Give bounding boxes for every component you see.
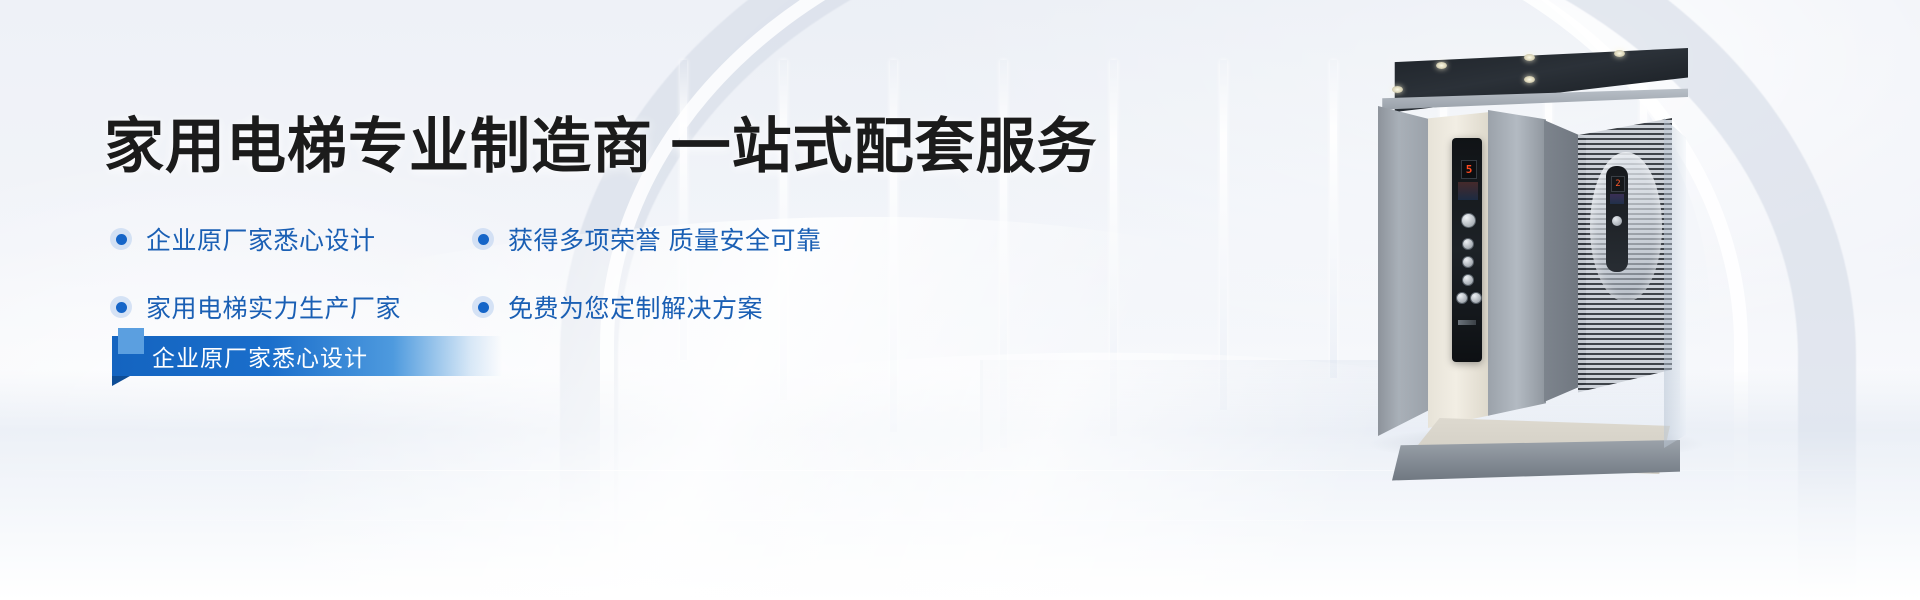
floor-indicator-display: 5 xyxy=(1461,160,1477,179)
rear-call-button-icon xyxy=(1612,216,1622,226)
highlight-tag[interactable]: 企业原厂家悉心设计 xyxy=(112,336,502,376)
feature-label: 获得多项荣誉 质量安全可靠 xyxy=(508,221,821,257)
panel-floor-button-icon xyxy=(1462,274,1474,286)
bullet-dot-icon xyxy=(472,296,494,318)
cabin-right-glass xyxy=(1664,118,1686,448)
tag-label: 企业原厂家悉心设计 xyxy=(152,339,368,373)
feature-label: 免费为您定制解决方案 xyxy=(508,289,763,325)
panel-door-open-button-icon xyxy=(1456,292,1468,304)
ceiling-light-icon xyxy=(1436,62,1447,69)
rear-floor-indicator: 2 xyxy=(1611,176,1625,192)
list-item: 获得多项荣誉 质量安全可靠 xyxy=(472,221,821,257)
tag-notch-icon xyxy=(112,376,130,386)
panel-door-close-button-icon xyxy=(1470,292,1482,304)
product-image-elevator: 2 5 xyxy=(1376,48,1688,448)
banner-content: 家用电梯专业制造商 一站式配套服务 企业原厂家悉心设计 获得多项荣誉 质量安全可… xyxy=(0,0,1100,600)
page-title: 家用电梯专业制造商 一站式配套服务 xyxy=(104,112,1098,182)
tag-accent-square-icon xyxy=(118,328,144,354)
panel-info-display xyxy=(1458,182,1478,200)
feature-label: 家用电梯实力生产厂家 xyxy=(146,289,401,325)
panel-main-button-icon xyxy=(1461,213,1476,228)
panel-floor-button-icon xyxy=(1462,256,1474,268)
feature-row: 企业原厂家悉心设计 获得多项荣誉 质量安全可靠 xyxy=(110,210,970,268)
cabin-mid-panel xyxy=(1488,110,1546,422)
bullet-dot-icon xyxy=(110,296,132,318)
cabin-left-wall xyxy=(1378,106,1430,436)
ceiling-light-icon xyxy=(1614,50,1625,57)
feature-label: 企业原厂家悉心设计 xyxy=(146,221,376,257)
list-item: 家用电梯实力生产厂家 xyxy=(110,289,472,325)
elevator-cabin: 2 5 xyxy=(1378,88,1680,440)
list-item: 免费为您定制解决方案 xyxy=(472,289,763,325)
feature-list: 企业原厂家悉心设计 获得多项荣誉 质量安全可靠 家用电梯实力生产厂家 免费为您定… xyxy=(110,210,970,336)
ceiling-light-icon xyxy=(1524,54,1535,61)
bullet-dot-icon xyxy=(110,228,132,250)
feature-row: 家用电梯实力生产厂家 免费为您定制解决方案 xyxy=(110,278,970,336)
ceiling-light-icon xyxy=(1524,76,1535,83)
panel-floor-button-icon xyxy=(1462,238,1474,250)
hero-banner: 家用电梯专业制造商 一站式配套服务 企业原厂家悉心设计 获得多项荣誉 质量安全可… xyxy=(0,0,1920,600)
list-item: 企业原厂家悉心设计 xyxy=(110,221,472,257)
bullet-dot-icon xyxy=(472,228,494,250)
rear-display-strip xyxy=(1610,194,1624,204)
panel-brand-plate xyxy=(1458,320,1476,325)
